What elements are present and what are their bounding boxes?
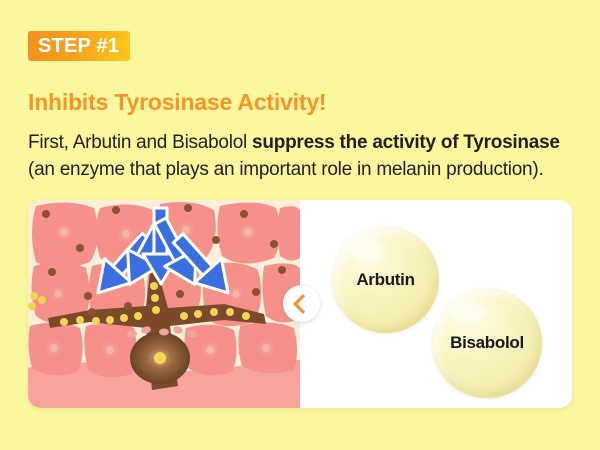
ingredient-panel: Arbutin Bisabolol — [300, 200, 572, 408]
melanocyte-illustration-svg — [28, 200, 300, 408]
carousel-prev-button[interactable] — [283, 285, 320, 322]
step-badge: STEP #1 — [28, 31, 130, 61]
melanocyte-illustration — [28, 200, 300, 408]
step-badge-label: STEP #1 — [38, 36, 119, 56]
ingredient-label-arbutin: Arbutin — [356, 270, 414, 290]
ingredient-label-bisabolol: Bisabolol — [450, 333, 524, 353]
ingredient-droplet-arbutin: Arbutin — [332, 226, 439, 333]
body-text-part-1: First, Arbutin and Bisabolol — [28, 132, 252, 153]
step-slide: STEP #1 Inhibits Tyrosinase Activity! Fi… — [0, 0, 600, 450]
body-text: First, Arbutin and Bisabolol suppress th… — [28, 130, 580, 184]
body-text-emphasis: suppress the activity of Tyrosinase — [252, 132, 560, 153]
ingredient-droplet-bisabolol: Bisabolol — [432, 288, 542, 398]
page-title: Inhibits Tyrosinase Activity! — [28, 89, 326, 115]
body-text-part-2: (an enzyme that plays an important role … — [28, 159, 543, 180]
chevron-left-icon — [293, 294, 313, 314]
